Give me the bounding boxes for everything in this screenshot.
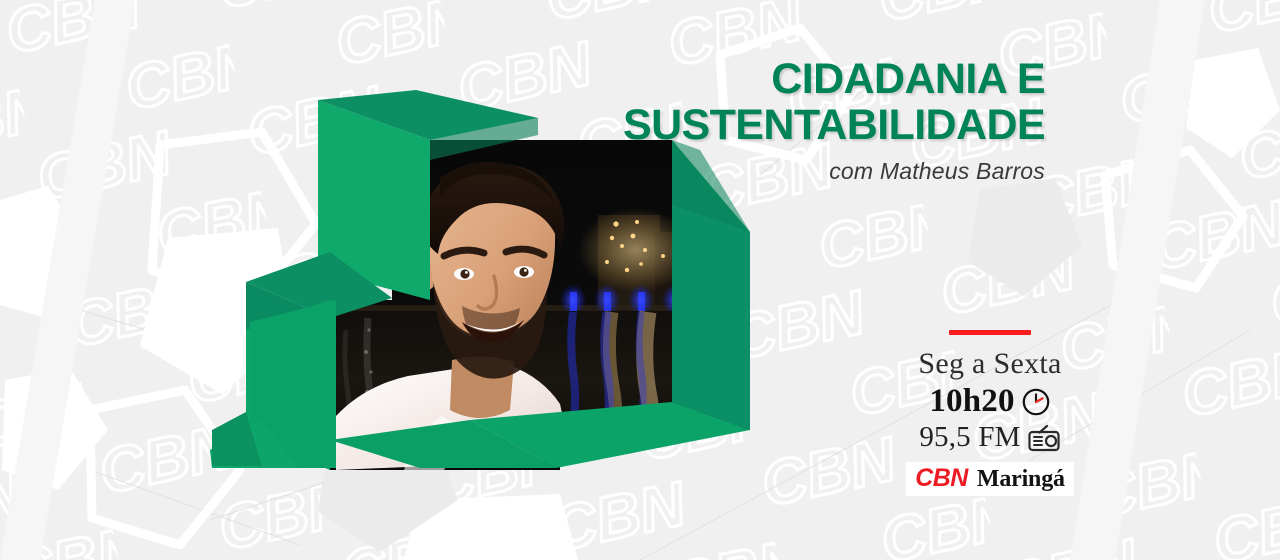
radio-program-banner: CBN CBN: [0, 0, 1280, 560]
logo-network-name: CBN: [915, 464, 968, 493]
schedule-frequency-row: 95,5 FM: [855, 421, 1125, 454]
title-line-1: CIDADANIA E: [430, 56, 1045, 102]
schedule-time-row: 10h20: [855, 383, 1125, 420]
program-host-subtitle: com Matheus Barros: [430, 158, 1045, 185]
schedule-frequency: 95,5 FM: [919, 421, 1020, 454]
schedule-time: 10h20: [929, 383, 1014, 420]
red-divider-rule: [949, 330, 1031, 335]
station-logo: CBN Maringá: [906, 462, 1074, 496]
title-line-2: SUSTENTABILIDADE: [430, 102, 1045, 148]
logo-city-name: Maringá: [977, 466, 1065, 493]
program-title-block: CIDADANIA E SUSTENTABILIDADE com Matheus…: [430, 56, 1045, 185]
schedule-block: Seg a Sexta 10h20 95,5 FM: [855, 330, 1125, 496]
clock-icon: [1021, 387, 1051, 417]
schedule-days: Seg a Sexta: [855, 347, 1125, 381]
radio-icon: [1027, 423, 1061, 453]
